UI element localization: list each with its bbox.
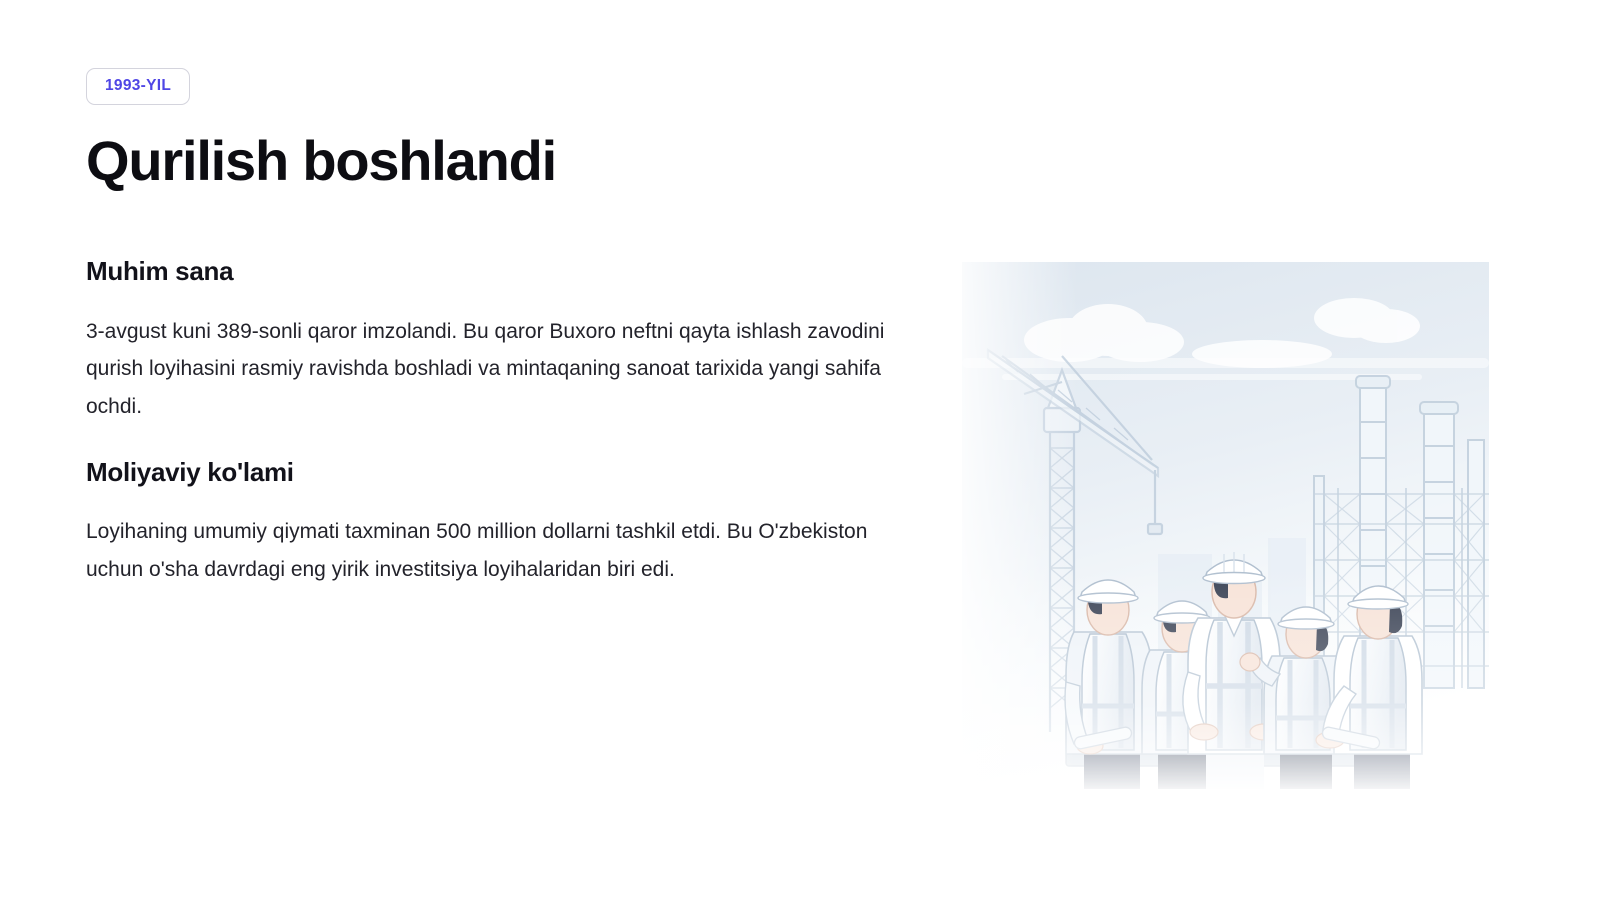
slide-root: 1993-YIL Qurilish boshlandi Muhim sana 3… <box>0 0 1600 900</box>
illustration-svg <box>962 262 1489 789</box>
section-muhim-sana: Muhim sana 3-avgust kuni 389-sonli qaror… <box>86 256 896 425</box>
section-body: Loyihaning umumiy qiymati taxminan 500 m… <box>86 513 886 588</box>
section-moliyaviy-kolami: Moliyaviy ko'lami Loyihaning umumiy qiym… <box>86 457 896 588</box>
page-title: Qurilish boshlandi <box>86 131 896 190</box>
content-column: 1993-YIL Qurilish boshlandi Muhim sana 3… <box>86 68 896 588</box>
left-fade <box>962 262 1489 789</box>
section-body: 3-avgust kuni 389-sonli qaror imzolandi.… <box>86 313 886 425</box>
section-heading: Moliyaviy ko'lami <box>86 457 896 488</box>
year-badge: 1993-YIL <box>86 68 190 105</box>
section-heading: Muhim sana <box>86 256 896 287</box>
construction-workers-blueprint-illustration <box>962 262 1489 789</box>
